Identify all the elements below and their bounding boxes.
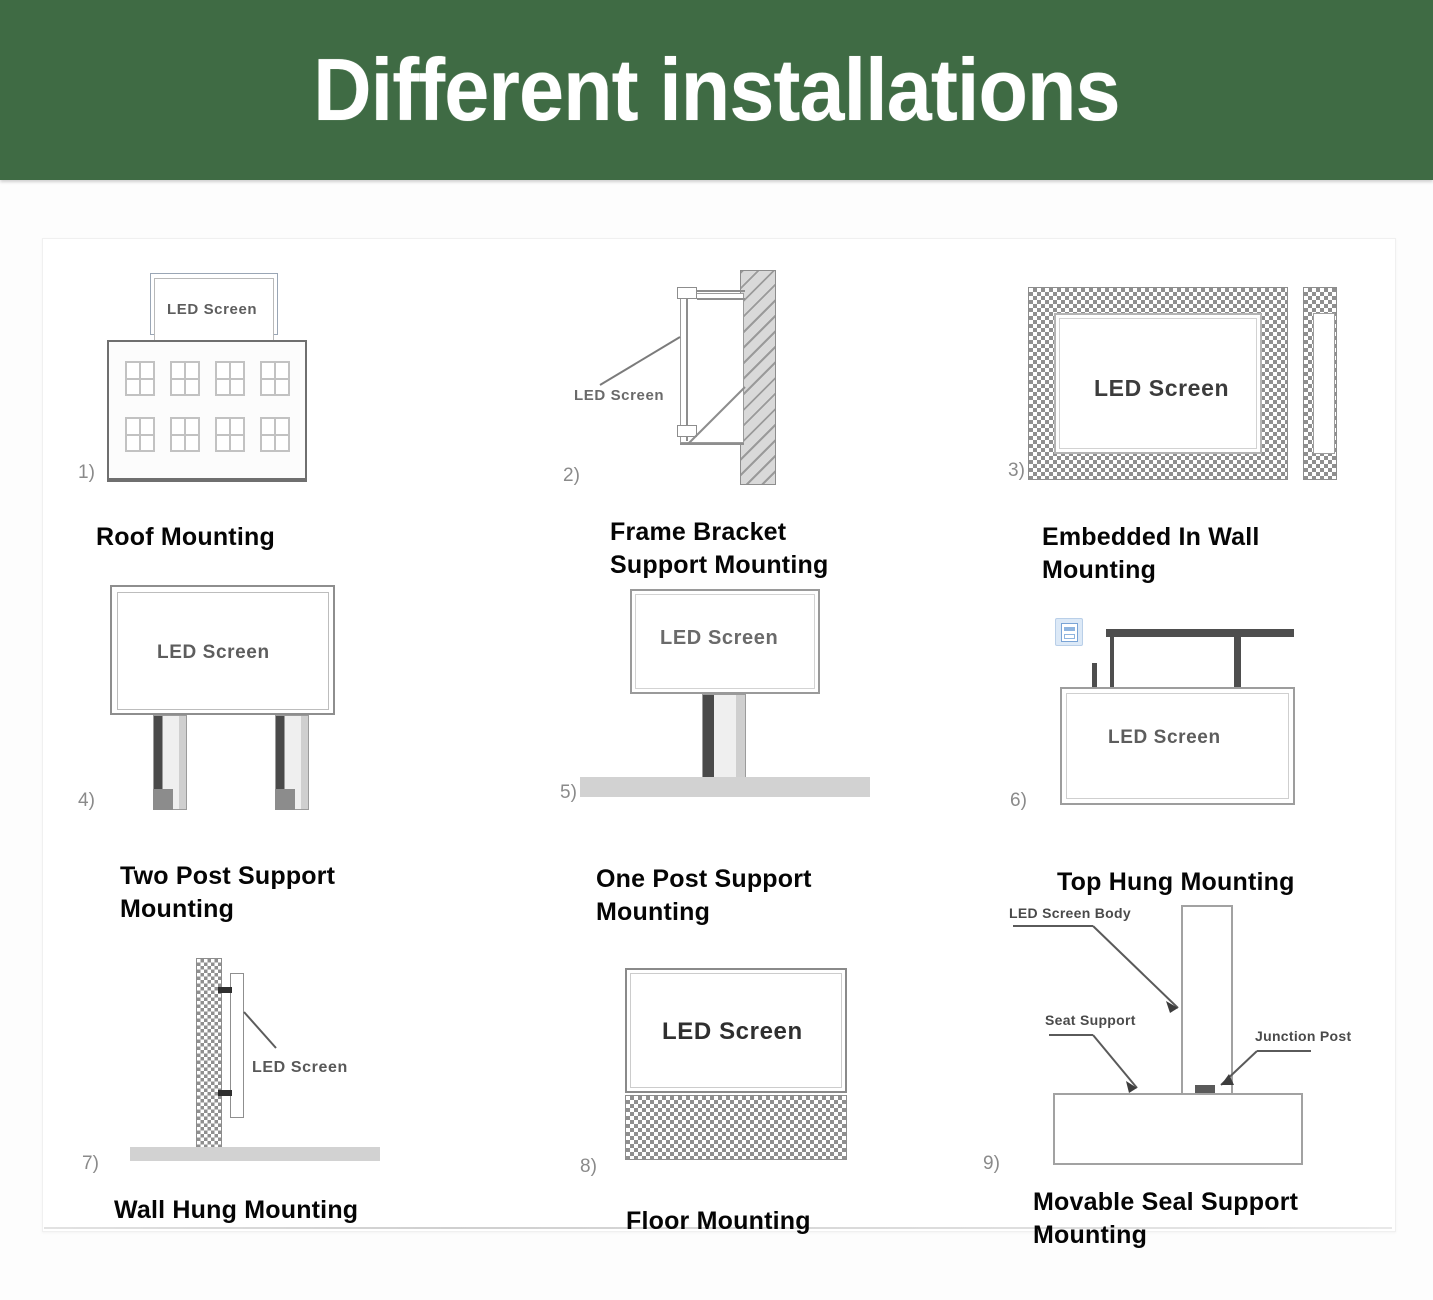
floor-base-textured [625,1095,847,1160]
caption-roof-mounting: Roof Mounting [96,521,476,554]
item-number-5: 5) [560,782,577,804]
led-screen-label-8: LED Screen [662,1018,803,1046]
led-screen-label-3: LED Screen [1094,375,1229,402]
installations-grid: LED Screen 1) Roof Mounting [0,0,1433,1300]
caption-floor-mounting: Floor Mounting [626,1205,1026,1238]
caption-movable-seal-support: Movable Seal Support Mounting [1033,1186,1433,1252]
embedded-screen-side-slot [1313,313,1335,454]
led-screen-label-7: LED Screen [252,1059,348,1077]
installation-item-8: LED Screen 8) [580,950,1000,1190]
item-number-9: 9) [983,1153,1000,1175]
building-window [125,361,155,396]
beam-hanger-left [1110,637,1114,687]
led-screen-leader-line [560,265,800,495]
building-window [170,361,200,396]
caption-embedded-in-wall: Embedded In Wall Mounting [1042,521,1422,587]
led-screen-label-6: LED Screen [1108,727,1221,749]
installation-item-1: LED Screen 1) [75,265,475,565]
installation-item-6: LED Screen 6) [1010,605,1410,845]
post-foot-right [275,789,295,810]
building-window [215,361,245,396]
beam-hanger-right [1234,637,1241,687]
item-number-8: 8) [580,1156,597,1178]
caption-frame-bracket: Frame Bracket Support Mounting [610,516,1010,582]
callout-arrow-junction-post [995,895,1425,1175]
item-number-4: 4) [78,790,95,812]
installation-item-9: LED Screen Body Seat Support Junction Po… [995,895,1425,1175]
item-number-1: 1) [78,462,95,484]
post-foot-left [153,789,173,810]
led-screen-label-5: LED Screen [660,627,778,650]
building-window [125,417,155,452]
caption-wall-hung: Wall Hung Mounting [114,1194,514,1227]
ground-line-5 [580,777,870,797]
caption-two-post-support: Two Post Support Mounting [120,860,520,926]
installation-item-4: LED Screen 4) [75,580,475,840]
overhead-beam [1106,629,1294,637]
item-number-7: 7) [82,1153,99,1175]
beam-stub-left [1092,663,1097,689]
led-screen-leader-line-7 [100,940,400,1180]
building-window [215,417,245,452]
building-window [260,361,290,396]
caption-one-post-support: One Post Support Mounting [596,863,996,929]
led-screen-label-4: LED Screen [157,642,270,664]
item-number-2: 2) [563,465,580,487]
item-number-6: 6) [1010,790,1027,812]
installation-item-5: LED Screen 5) [560,585,980,825]
building-window [260,417,290,452]
item-number-3: 3) [1008,460,1025,482]
center-support-post [702,694,746,779]
building-window [170,417,200,452]
installation-item-7: LED Screen 7) [100,940,500,1180]
broken-image-icon [1055,618,1083,646]
ground-line-7 [130,1147,380,1161]
roof-led-screen-text: LED Screen [167,301,257,318]
led-screen-label-2: LED Screen [574,387,664,404]
